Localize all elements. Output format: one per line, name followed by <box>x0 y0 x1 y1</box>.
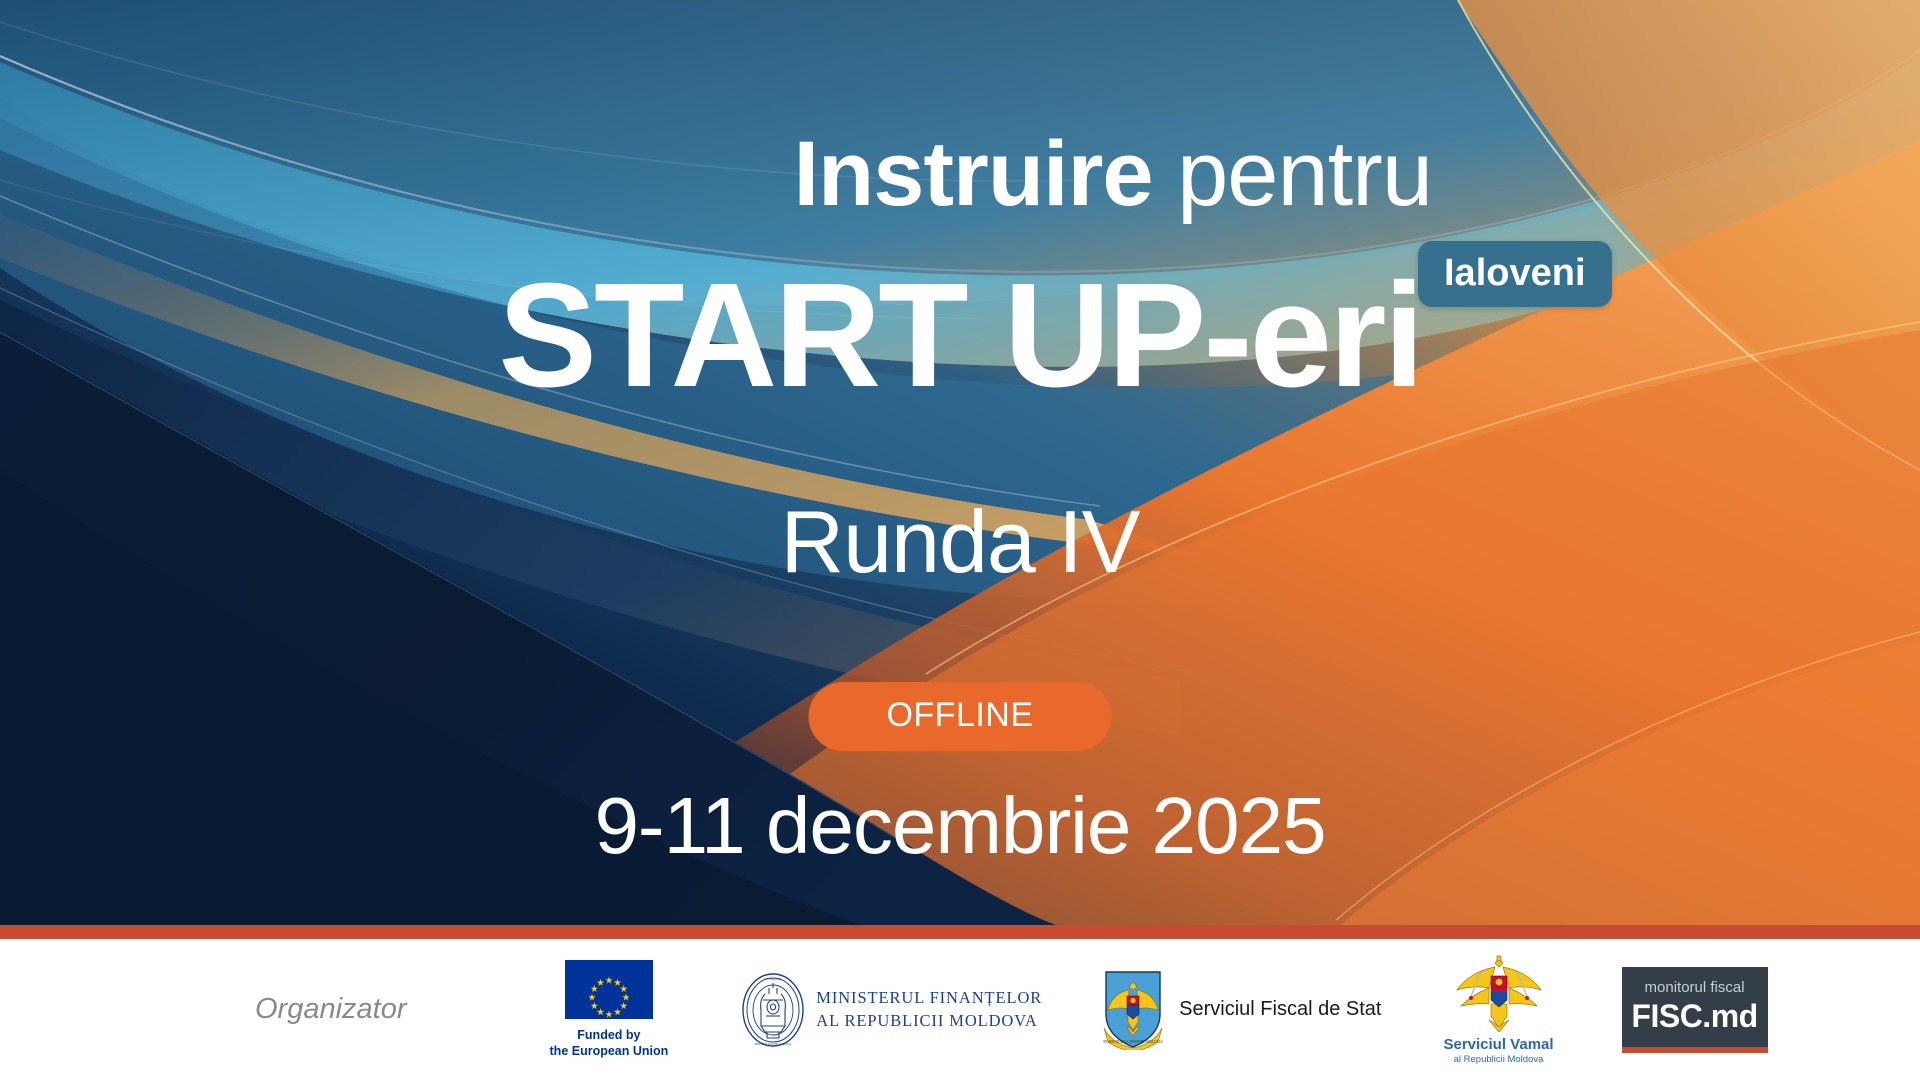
svg-text:REPUBLICII MOLDOVA: REPUBLICII MOLDOVA <box>755 1042 792 1046</box>
eu-caption-line1: Funded by <box>550 1027 669 1043</box>
customs-line1: Serviciul Vamal <box>1443 1036 1553 1053</box>
logo-fisc-md: monitorul fiscal FISC.md <box>1622 967 1768 1053</box>
fisc-md-box: monitorul fiscal FISC.md <box>1622 967 1768 1047</box>
hero-headline: START UP-eri <box>0 262 1920 410</box>
hero-round: Runda IV <box>0 498 1920 586</box>
hero-kicker: Instruire pentru <box>0 128 1432 220</box>
eu-funding-caption: Funded by the European Union <box>550 1027 669 1059</box>
svg-text:GUVERNUL: GUVERNUL <box>764 977 783 981</box>
logo-state-tax-service: IN SERVICIUL CONTRIBUABILULUI Serviciul … <box>1100 970 1381 1050</box>
customs-service-eagle-icon <box>1453 954 1545 1032</box>
ministry-line1: MINISTERUL FINANȚELOR <box>816 987 1042 1009</box>
fisc-md-line2: FISC.md <box>1622 1000 1768 1032</box>
footer-logo-bar: Organizator <box>0 939 1920 1080</box>
hero-kicker-light: pentru <box>1177 123 1432 225</box>
eu-stars-icon <box>565 960 653 1019</box>
eu-flag-icon <box>565 960 653 1019</box>
promo-banner: Instruire pentru Ialoveni START UP-eri R… <box>0 0 1920 1080</box>
fisc-md-line1: monitorul fiscal <box>1622 980 1768 995</box>
logo-eu-funding: Funded by the European Union <box>550 960 669 1059</box>
ministry-line2: AL REPUBLICII MOLDOVA <box>816 1010 1042 1032</box>
customs-line2: al Republicii Moldova <box>1454 1054 1544 1065</box>
state-tax-service-crest-icon: IN SERVICIUL CONTRIBUABILULUI <box>1100 970 1166 1050</box>
state-tax-service-text: Serviciul Fiscal de Stat <box>1179 998 1381 1021</box>
fisc-md-accent-bar <box>1622 1047 1768 1053</box>
format-pill: OFFLINE <box>808 682 1111 751</box>
eu-caption-line2: the European Union <box>550 1043 669 1059</box>
moldova-government-seal-icon: GUVERNUL REPUBLICII MOLDOVA <box>741 972 805 1048</box>
svg-text:IN SERVICIUL CONTRIBUABILULUI: IN SERVICIUL CONTRIBUABILULUI <box>1104 1040 1164 1044</box>
hero-kicker-bold: Instruire <box>793 123 1152 225</box>
logo-ministry-of-finance: GUVERNUL REPUBLICII MOLDOVA MINISTERUL F… <box>741 972 1042 1048</box>
event-date: 9-11 decembrie 2025 <box>0 786 1920 866</box>
ministry-of-finance-text: MINISTERUL FINANȚELOR AL REPUBLICII MOLD… <box>816 987 1042 1032</box>
organizer-label: Organizator <box>255 993 407 1026</box>
hero-content: Instruire pentru Ialoveni START UP-eri R… <box>0 0 1920 925</box>
logo-customs-service: Serviciul Vamal al Republicii Moldova <box>1443 954 1553 1065</box>
footer-divider <box>0 925 1920 939</box>
